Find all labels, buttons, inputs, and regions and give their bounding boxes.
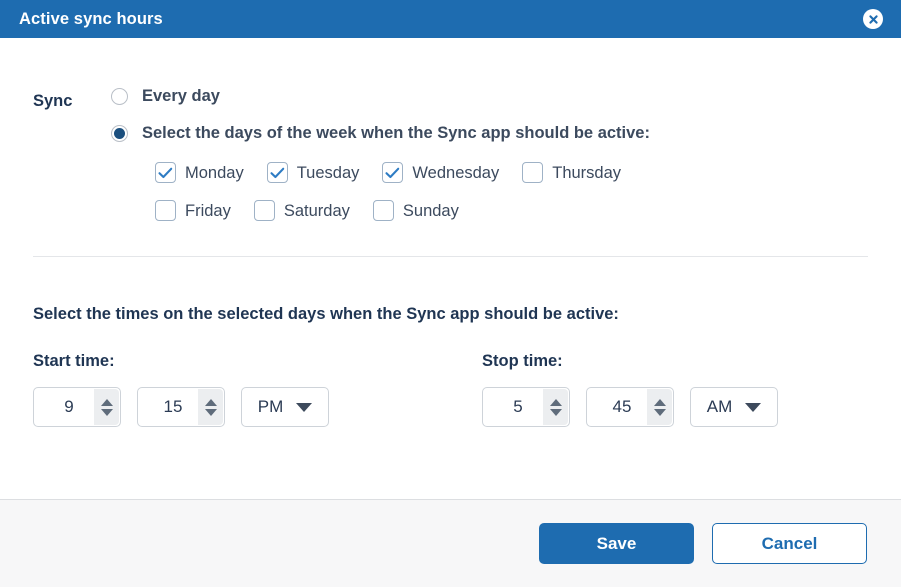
day-checkbox-sunday[interactable]: Sunday: [373, 200, 459, 221]
dialog-footer: Save Cancel: [0, 499, 901, 587]
checkbox-icon-sunday[interactable]: [373, 200, 394, 221]
day-label-wednesday: Wednesday: [412, 163, 499, 183]
chevron-down-icon[interactable]: [205, 409, 217, 416]
checkbox-icon-wednesday[interactable]: [382, 162, 403, 183]
checkbox-icon-tuesday[interactable]: [267, 162, 288, 183]
radio-label-select-days: Select the days of the week when the Syn…: [142, 123, 650, 143]
day-checkbox-friday[interactable]: Friday: [155, 200, 231, 221]
close-icon[interactable]: [863, 9, 883, 29]
stop-hour-spinner-arrows[interactable]: [543, 389, 568, 425]
start-time-label: Start time:: [33, 351, 345, 371]
day-checkbox-thursday[interactable]: Thursday: [522, 162, 621, 183]
chevron-down-icon[interactable]: [550, 409, 562, 416]
day-checkbox-wednesday[interactable]: Wednesday: [382, 162, 499, 183]
stop-time-group: Stop time: 5 45: [482, 351, 794, 427]
day-checkbox-monday[interactable]: Monday: [155, 162, 244, 183]
chevron-up-icon[interactable]: [550, 399, 562, 406]
day-label-thursday: Thursday: [552, 163, 621, 183]
chevron-down-icon[interactable]: [745, 403, 761, 412]
radio-option-every-day[interactable]: Every day: [111, 86, 868, 106]
chevron-down-icon[interactable]: [101, 409, 113, 416]
checkbox-icon-thursday[interactable]: [522, 162, 543, 183]
checkbox-icon-saturday[interactable]: [254, 200, 275, 221]
start-hour-spinner-arrows[interactable]: [94, 389, 119, 425]
chevron-down-icon[interactable]: [654, 409, 666, 416]
day-label-monday: Monday: [185, 163, 244, 183]
start-minute-spinner-arrows[interactable]: [198, 389, 223, 425]
day-row-1: Monday Tuesday W: [155, 162, 868, 183]
radio-option-select-days[interactable]: Select the days of the week when the Syn…: [111, 123, 868, 143]
stop-minute-stepper[interactable]: 45: [586, 387, 674, 427]
save-button[interactable]: Save: [539, 523, 694, 564]
start-time-group: Start time: 9 15: [33, 351, 345, 427]
day-label-sunday: Sunday: [403, 201, 459, 221]
start-hour-stepper[interactable]: 9: [33, 387, 121, 427]
checkbox-icon-friday[interactable]: [155, 200, 176, 221]
sync-label: Sync: [33, 86, 111, 114]
stop-time-label: Stop time:: [482, 351, 794, 371]
checkbox-icon-monday[interactable]: [155, 162, 176, 183]
stop-minute-spinner-arrows[interactable]: [647, 389, 672, 425]
stop-meridiem-dropdown[interactable]: AM: [690, 387, 778, 427]
start-time-controls: 9 15 PM: [33, 387, 345, 427]
sync-section: Sync Every day Select the days of the we…: [33, 38, 868, 143]
radio-icon-select-days[interactable]: [111, 125, 128, 142]
active-sync-hours-dialog: Active sync hours Sync Every day Select …: [0, 0, 901, 587]
day-checkbox-saturday[interactable]: Saturday: [254, 200, 350, 221]
dialog-title: Active sync hours: [19, 11, 163, 28]
day-checkbox-tuesday[interactable]: Tuesday: [267, 162, 360, 183]
stop-hour-stepper[interactable]: 5: [482, 387, 570, 427]
day-label-saturday: Saturday: [284, 201, 350, 221]
times-heading: Select the times on the selected days wh…: [33, 304, 868, 324]
day-label-tuesday: Tuesday: [297, 163, 360, 183]
start-minute-stepper[interactable]: 15: [137, 387, 225, 427]
chevron-up-icon[interactable]: [205, 399, 217, 406]
day-checkbox-group: Monday Tuesday W: [33, 143, 868, 221]
radio-icon-every-day[interactable]: [111, 88, 128, 105]
radio-label-every-day: Every day: [142, 86, 220, 106]
chevron-down-icon[interactable]: [296, 403, 312, 412]
day-row-2: Friday Saturday: [155, 200, 868, 221]
section-divider: [33, 256, 868, 257]
chevron-up-icon[interactable]: [654, 399, 666, 406]
stop-time-controls: 5 45 AM: [482, 387, 794, 427]
start-meridiem-dropdown[interactable]: PM: [241, 387, 329, 427]
start-meridiem-value: PM: [258, 397, 284, 417]
dialog-titlebar: Active sync hours: [0, 0, 901, 38]
time-pickers: Start time: 9 15: [33, 351, 868, 427]
day-label-friday: Friday: [185, 201, 231, 221]
cancel-button[interactable]: Cancel: [712, 523, 867, 564]
chevron-up-icon[interactable]: [101, 399, 113, 406]
sync-radio-group: Every day Select the days of the week wh…: [111, 86, 868, 143]
dialog-body: Sync Every day Select the days of the we…: [0, 38, 901, 499]
stop-meridiem-value: AM: [707, 397, 733, 417]
